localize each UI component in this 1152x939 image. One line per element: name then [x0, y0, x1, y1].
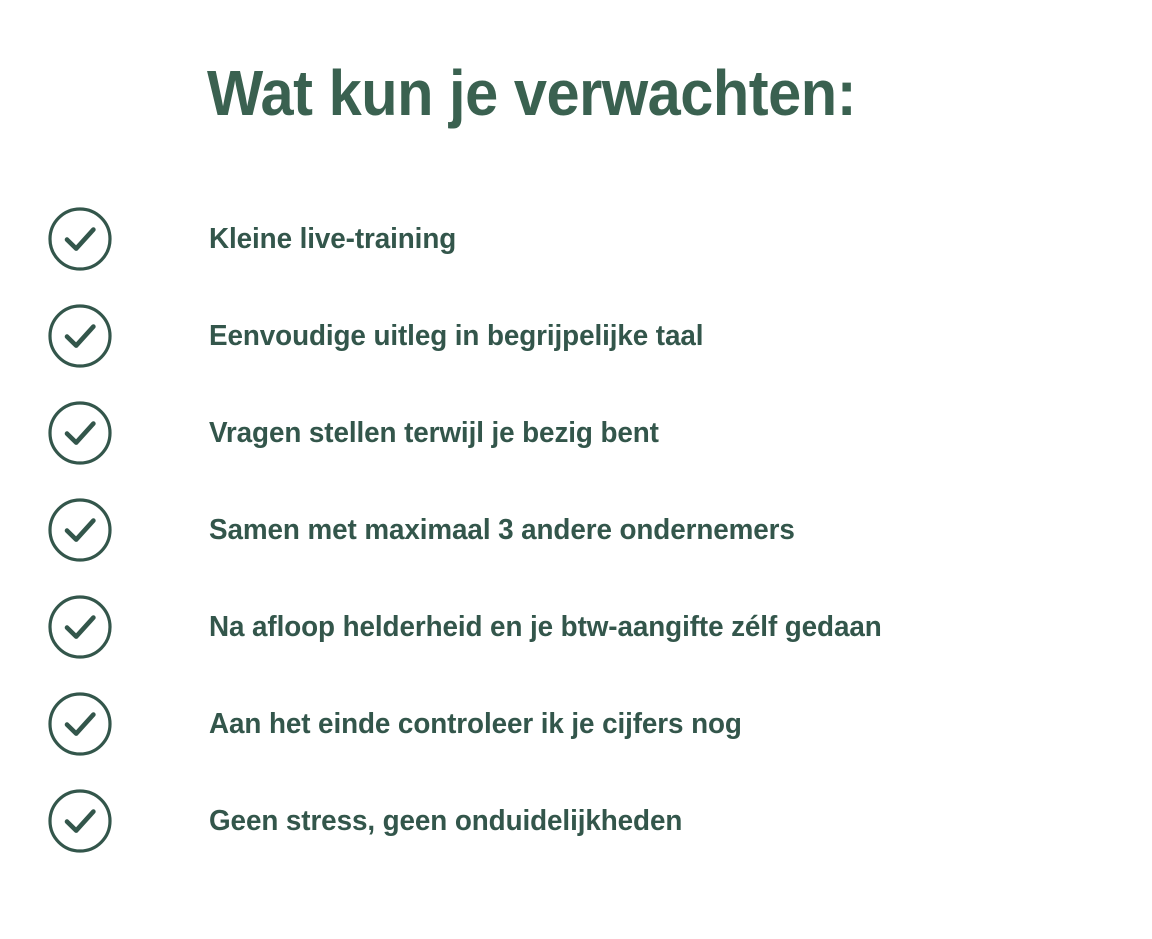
expectations-checklist: Kleine live-training Eenvoudige uitleg i…	[0, 190, 1152, 869]
list-item-label: Na afloop helderheid en je btw-aangifte …	[209, 610, 882, 644]
list-item: Vragen stellen terwijl je bezig bent	[0, 384, 1152, 481]
check-circle-icon	[48, 304, 112, 368]
list-item-label: Geen stress, geen onduidelijkheden	[209, 804, 682, 838]
check-circle-icon	[48, 207, 112, 271]
check-circle-icon	[48, 498, 112, 562]
list-item-label: Eenvoudige uitleg in begrijpelijke taal	[209, 319, 703, 353]
list-item: Samen met maximaal 3 andere ondernemers	[0, 481, 1152, 578]
list-item-label: Kleine live-training	[209, 222, 456, 256]
check-circle-icon	[48, 595, 112, 659]
list-item: Na afloop helderheid en je btw-aangifte …	[0, 578, 1152, 675]
list-item-label: Samen met maximaal 3 andere ondernemers	[209, 513, 795, 547]
list-item: Geen stress, geen onduidelijkheden	[0, 772, 1152, 869]
check-circle-icon	[48, 692, 112, 756]
list-item: Kleine live-training	[0, 190, 1152, 287]
check-circle-icon	[48, 401, 112, 465]
list-item: Eenvoudige uitleg in begrijpelijke taal	[0, 287, 1152, 384]
list-item-label: Vragen stellen terwijl je bezig bent	[209, 416, 659, 450]
expectations-section: Wat kun je verwachten: Kleine live-train…	[0, 0, 1152, 939]
check-circle-icon	[48, 789, 112, 853]
page-title: Wat kun je verwachten:	[207, 57, 856, 129]
list-item-label: Aan het einde controleer ik je cijfers n…	[209, 707, 742, 741]
list-item: Aan het einde controleer ik je cijfers n…	[0, 675, 1152, 772]
